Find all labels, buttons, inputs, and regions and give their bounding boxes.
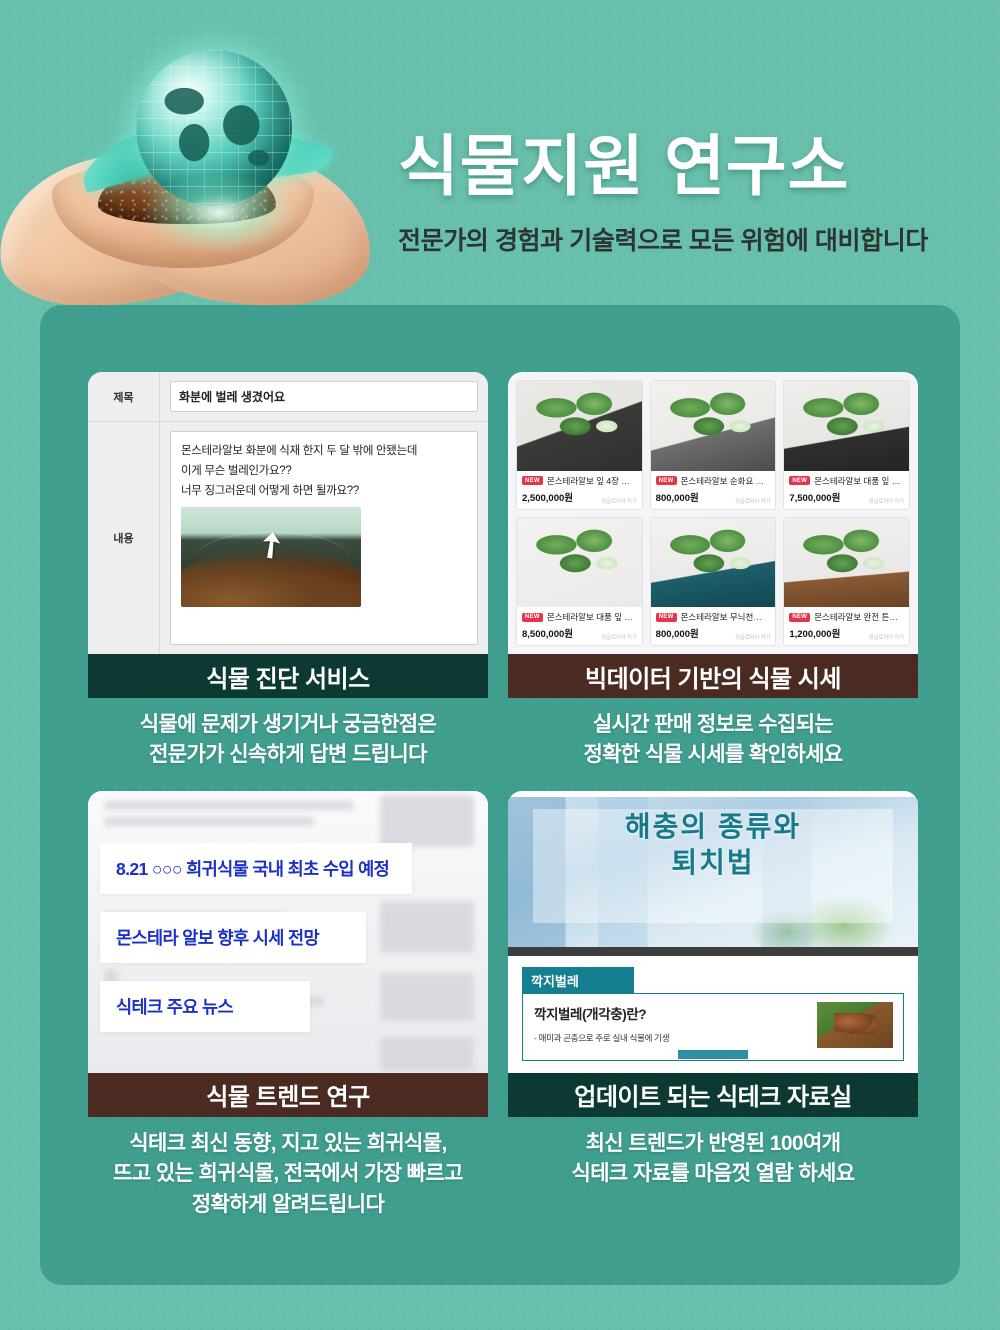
product-info: NEW 몬스테라알보 무늬천… 800,000원 정글로리아 작가 (651, 607, 776, 645)
news-list: 8.21 ○○○ 희귀식물 국내 최초 수입 예정 몬스테라 알보 향후 시세 … (88, 843, 488, 1032)
product-name: 몬스테라알보 완전 튼… (814, 611, 898, 623)
new-badge: NEW (789, 613, 810, 622)
page-subtitle: 전문가의 경험과 기술력으로 모든 위험에 대비합니다 (398, 221, 978, 257)
product-info: NEW 몬스테라알보 순화요 … 800,000원 정글로리아 작가 (651, 471, 776, 509)
blur-thumbnail (380, 795, 474, 847)
qa-content-line-3: 너무 징그러운데 어떻게 하면 될까요?? (181, 481, 467, 501)
product-name-row: NEW 몬스테라알보 잎 4장 … (522, 475, 637, 487)
blur-line (104, 801, 354, 810)
product-card[interactable]: NEW 몬스테라알보 무늬천… 800,000원 정글로리아 작가 (650, 517, 777, 647)
feature-bigdata-price[interactable]: NEW 몬스테라알보 잎 4장 … 2,500,000원 정글로리아 작가 (508, 372, 918, 771)
seller-watermark: 정글로리아 작가 (735, 497, 770, 505)
page-title: 식물지원 연구소 (398, 128, 978, 205)
product-image (784, 518, 909, 608)
caption-line: 뜨고 있는 희귀식물, 전국에서 가장 빠르고 (88, 1159, 488, 1189)
hero-text-block: 식물지원 연구소 전문가의 경험과 기술력으로 모든 위험에 대비합니다 (398, 128, 978, 257)
feature-plant-trend[interactable]: 8.21 ○○○ 희귀식물 국내 최초 수입 예정 몬스테라 알보 향후 시세 … (88, 791, 488, 1220)
archive-slide-thumbnail: 해충의 종류와 퇴치법 깍지벌레 깍지벌레(개각충)란? - 매미과 곤충으로 … (508, 791, 918, 1073)
product-image (651, 381, 776, 471)
archive-slide: 해충의 종류와 퇴치법 깍지벌레 깍지벌레(개각충)란? - 매미과 곤충으로 … (508, 791, 918, 1073)
feature-caption-plant-diagnosis: 식물에 문제가 생기거나 궁금한점은 전문가가 신속하게 답변 드립니다 (88, 710, 488, 771)
qa-content-label: 내용 (88, 422, 160, 654)
product-image (651, 518, 776, 608)
caption-line: 식물에 문제가 생기거나 궁금한점은 (88, 710, 488, 740)
feature-caption-bigdata-price: 실시간 판매 정보로 수집되는 정확한 식물 시세를 확인하세요 (508, 710, 918, 771)
feature-update-archive[interactable]: 해충의 종류와 퇴치법 깍지벌레 깍지벌레(개각충)란? - 매미과 곤충으로 … (508, 791, 918, 1220)
product-name: 몬스테라알보 대품 잎 … (814, 475, 900, 487)
product-info: NEW 몬스테라알보 대품 잎 … 8,500,000원 정글로리아 작가 (517, 607, 642, 645)
feature-caption-plant-trend: 식테크 최신 동향, 지고 있는 희귀식물, 뜨고 있는 희귀식물, 전국에서 … (88, 1129, 488, 1220)
new-badge: NEW (656, 613, 677, 622)
qa-content-line-2: 이게 무슨 벌레인가요?? (181, 461, 467, 481)
seller-watermark: 정글로리아 작가 (735, 633, 770, 641)
product-card[interactable]: NEW 몬스테라알보 대품 잎 … 7,500,000원 정글로리아 작가 (783, 380, 910, 510)
feature-banner-plant-diagnosis: 식물 진단 서비스 (88, 654, 488, 698)
caption-line: 식테크 최신 동향, 지고 있는 희귀식물, (88, 1129, 488, 1159)
product-name-row: NEW 몬스테라알보 대품 잎 … (789, 475, 904, 487)
scale-insect-photo (817, 1002, 893, 1048)
slide-title-line-2: 퇴치법 (508, 845, 918, 881)
product-grid: NEW 몬스테라알보 잎 4장 … 2,500,000원 정글로리아 작가 (508, 372, 918, 654)
qa-title-field: 화분에 벌레 생겼어요 (160, 372, 488, 421)
blur-thumbnail (380, 1037, 474, 1071)
hero-section: 식물지원 연구소 전문가의 경험과 기술력으로 모든 위험에 대비합니다 (0, 0, 1000, 310)
product-name-row: NEW 몬스테라알보 대품 잎 … (522, 611, 637, 623)
product-card[interactable]: NEW 몬스테라알보 잎 4장 … 2,500,000원 정글로리아 작가 (516, 380, 643, 510)
product-card[interactable]: NEW 몬스테라알보 순화요 … 800,000원 정글로리아 작가 (650, 380, 777, 510)
qa-form: 제목 화분에 벌레 생겼어요 내용 몬스테라알보 화분에 식재 한지 두 달 밖… (88, 372, 488, 654)
news-item[interactable]: 8.21 ○○○ 희귀식물 국내 최초 수입 예정 (100, 843, 412, 894)
caption-line: 정확하게 알려드립니다 (88, 1190, 488, 1220)
product-image (517, 518, 642, 608)
caption-line: 실시간 판매 정보로 수집되는 (508, 710, 918, 740)
qa-content-line-1: 몬스테라알보 화분에 식재 한지 두 달 밖에 안됐는데 (181, 441, 467, 461)
news-item[interactable]: 몬스테라 알보 향후 시세 전망 (100, 912, 366, 963)
feature-grid: 제목 화분에 벌레 생겼어요 내용 몬스테라알보 화분에 식재 한지 두 달 밖… (88, 372, 918, 1220)
news-item[interactable]: 식테크 주요 뉴스 (100, 981, 310, 1032)
product-info: NEW 몬스테라알보 완전 튼… 1,200,000원 정글로리아 작가 (784, 607, 909, 645)
qa-form-thumbnail: 제목 화분에 벌레 생겼어요 내용 몬스테라알보 화분에 식재 한지 두 달 밖… (88, 372, 488, 654)
qa-content-field: 몬스테라알보 화분에 식재 한지 두 달 밖에 안됐는데 이게 무슨 벌레인가요… (160, 422, 488, 654)
market-grid-thumbnail: NEW 몬스테라알보 잎 4장 … 2,500,000원 정글로리아 작가 (508, 372, 918, 654)
product-image (517, 381, 642, 471)
qa-title-input[interactable]: 화분에 벌레 생겼어요 (170, 381, 478, 412)
qa-title-row: 제목 화분에 벌레 생겼어요 (88, 372, 488, 422)
seller-watermark: 정글로리아 작가 (601, 633, 636, 641)
new-badge: NEW (522, 613, 543, 622)
caption-line: 정확한 식물 시세를 확인하세요 (508, 740, 918, 770)
product-name: 몬스테라알보 대품 잎 … (547, 611, 633, 623)
feature-caption-update-archive: 최신 트렌드가 반영된 100여개 식테크 자료를 마음껏 열람 하세요 (508, 1129, 918, 1190)
slide-title: 해충의 종류와 퇴치법 (508, 809, 918, 881)
qa-content-input[interactable]: 몬스테라알보 화분에 식재 한지 두 달 밖에 안됐는데 이게 무슨 벌레인가요… (170, 431, 478, 645)
qa-content-row: 내용 몬스테라알보 화분에 식재 한지 두 달 밖에 안됐는데 이게 무슨 벌레… (88, 422, 488, 654)
feature-plant-diagnosis[interactable]: 제목 화분에 벌레 생겼어요 내용 몬스테라알보 화분에 식재 한지 두 달 밖… (88, 372, 488, 771)
new-badge: NEW (789, 476, 810, 485)
product-name-row: NEW 몬스테라알보 무늬천… (656, 611, 771, 623)
product-name-row: NEW 몬스테라알보 순화요 … (656, 475, 771, 487)
seller-watermark: 정글로리아 작가 (869, 633, 904, 641)
product-name: 몬스테라알보 무늬천… (681, 611, 762, 623)
trend-news-thumbnail: 8.21 ○○○ 희귀식물 국내 최초 수입 예정 몬스테라 알보 향후 시세 … (88, 791, 488, 1073)
new-badge: NEW (522, 476, 543, 485)
product-card[interactable]: NEW 몬스테라알보 대품 잎 … 8,500,000원 정글로리아 작가 (516, 517, 643, 647)
feature-banner-bigdata-price: 빅데이터 기반의 식물 시세 (508, 654, 918, 698)
feature-banner-plant-trend: 식물 트렌드 연구 (88, 1073, 488, 1117)
new-badge: NEW (656, 476, 677, 485)
product-info: NEW 몬스테라알보 대품 잎 … 7,500,000원 정글로리아 작가 (784, 471, 909, 509)
product-card[interactable]: NEW 몬스테라알보 완전 튼… 1,200,000원 정글로리아 작가 (783, 517, 910, 647)
product-info: NEW 몬스테라알보 잎 4장 … 2,500,000원 정글로리아 작가 (517, 471, 642, 509)
blur-line (104, 817, 314, 826)
pot-with-bug-photo: ➚ (181, 507, 361, 607)
seller-watermark: 정글로리아 작가 (869, 497, 904, 505)
trend-news-board: 8.21 ○○○ 희귀식물 국내 최초 수입 예정 몬스테라 알보 향후 시세 … (88, 791, 488, 1073)
slide-title-line-1: 해충의 종류와 (508, 809, 918, 845)
globe-icon (136, 50, 292, 206)
feature-banner-update-archive: 업데이트 되는 식테크 자료실 (508, 1073, 918, 1117)
content-panel: 제목 화분에 벌레 생겼어요 내용 몬스테라알보 화분에 식재 한지 두 달 밖… (40, 305, 960, 1285)
section-tab: 깍지벌레 (522, 967, 634, 994)
archive-detail-slide: 깍지벌레 깍지벌레(개각충)란? - 매미과 곤충으로 주로 실내 식물에 기생 (522, 967, 904, 1061)
product-name: 몬스테라알보 잎 4장 … (547, 475, 630, 487)
caption-line: 전문가가 신속하게 답변 드립니다 (88, 740, 488, 770)
slide-floor-bar (508, 947, 918, 956)
qa-title-label: 제목 (88, 372, 160, 421)
seller-watermark: 정글로리아 작가 (601, 497, 636, 505)
product-name: 몬스테라알보 순화요 … (681, 475, 765, 487)
slide-accent-bar (678, 1050, 748, 1059)
product-name-row: NEW 몬스테라알보 완전 튼… (789, 611, 904, 623)
promo-page: 식물지원 연구소 전문가의 경험과 기술력으로 모든 위험에 대비합니다 제목 … (0, 0, 1000, 1330)
caption-line: 최신 트렌드가 반영된 100여개 (508, 1129, 918, 1159)
product-image (784, 381, 909, 471)
hands-holding-globe-plant-icon (0, 34, 394, 310)
caption-line: 식테크 자료를 마음껏 열람 하세요 (508, 1159, 918, 1189)
